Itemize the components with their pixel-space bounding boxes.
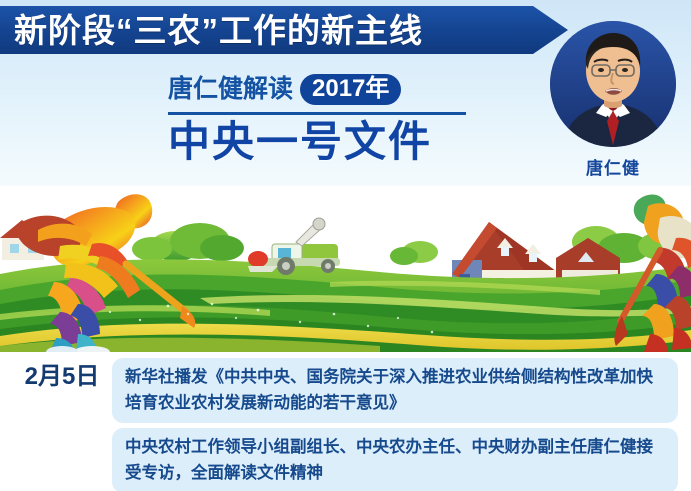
subheading-lead: 唐仁健解读 (168, 77, 293, 102)
document-title: 中央一号文件 (168, 119, 488, 164)
year-badge: 2017年 (300, 74, 401, 105)
note-item: 新华社播发《中共中央、国务院关于深入推进农业供给侧结构性改革加快培育农业农村发展… (112, 358, 678, 423)
subheading-row: 唐仁健解读 2017年 (168, 74, 488, 105)
portrait-name-label: 唐仁健 (543, 154, 683, 179)
info-panel: 2月5日 新华社播发《中共中央、国务院关于深入推进农业供给侧结构性改革加快培育农… (0, 355, 691, 491)
portrait-block: 唐仁健 (543, 21, 683, 179)
date-label: 2月5日 (14, 365, 110, 389)
infographic-root: 新阶段“三农”工作的新主线 唐仁健解读 2017年 中央一号文件 (0, 0, 691, 491)
subheading-block: 唐仁健解读 2017年 中央一号文件 (168, 74, 488, 165)
avatar (550, 21, 676, 147)
note-item: 中央农村工作领导小组副组长、中央农办主任、中央财办副主任唐仁健接受专访，全面解读… (112, 428, 678, 491)
headline-ribbon: 新阶段“三农”工作的新主线 (0, 6, 568, 54)
divider-rule (168, 112, 466, 115)
page-title: 新阶段“三农”工作的新主线 (0, 14, 423, 47)
farmland-illustration (0, 186, 691, 352)
